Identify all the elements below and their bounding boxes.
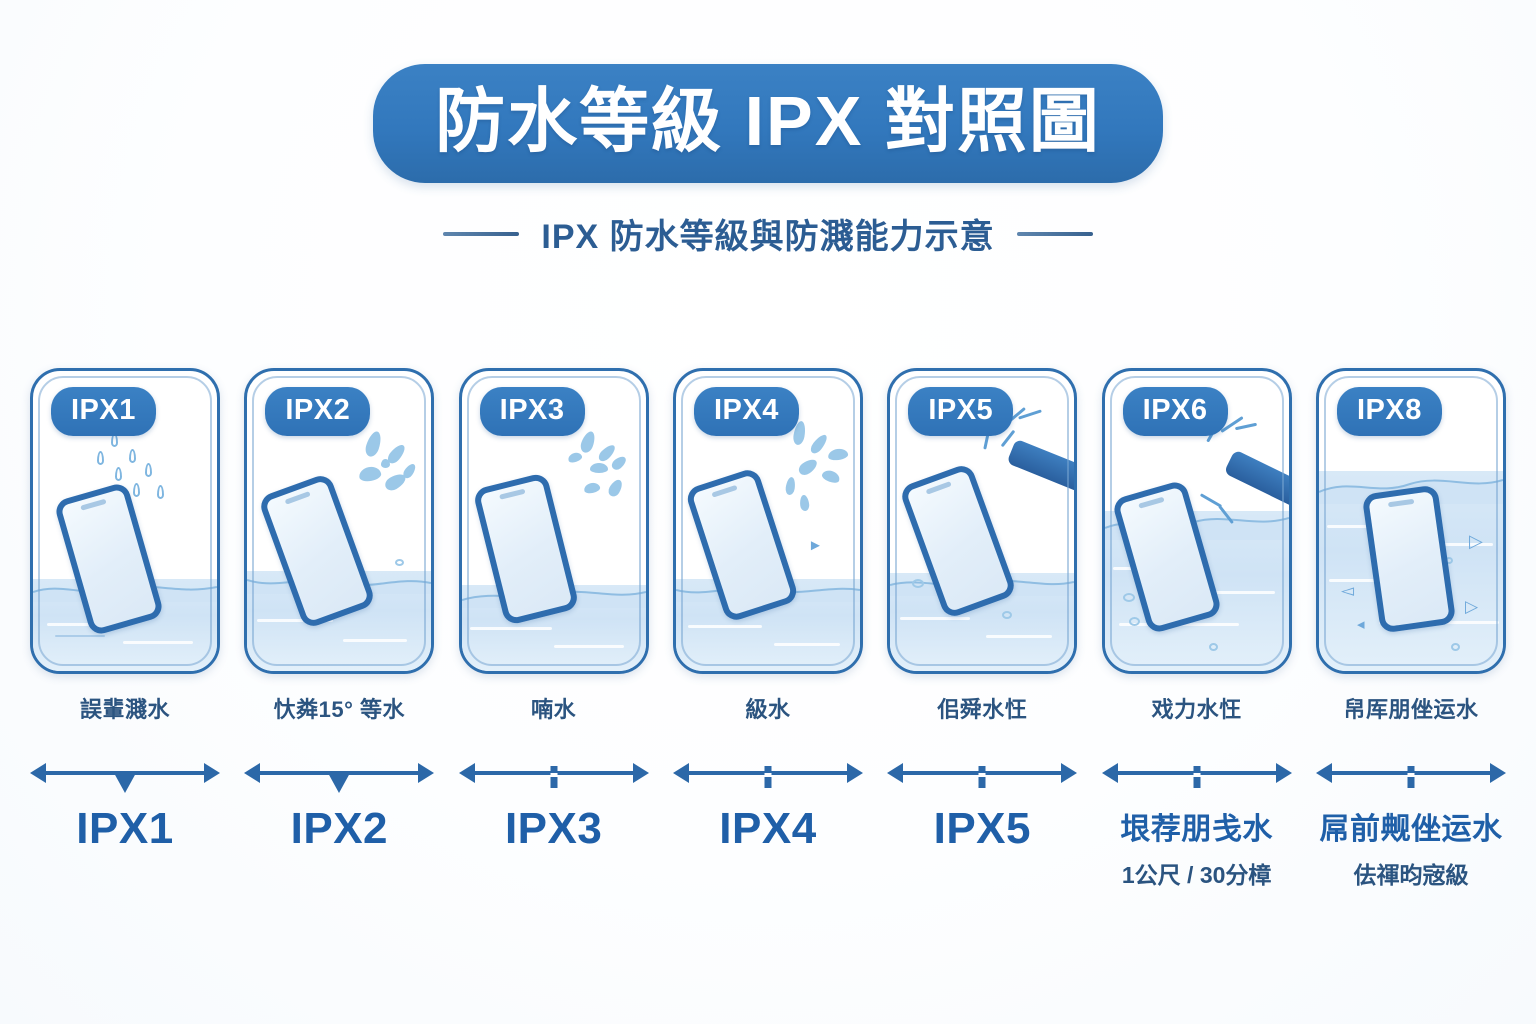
scale-label: IPX1 xyxy=(30,804,220,854)
water-jet-nozzle-icon xyxy=(1007,439,1078,498)
scale-marker-icon xyxy=(1407,766,1414,788)
ipx-card[interactable]: IPX2 xyxy=(244,368,434,674)
card-column-ipx3: IPX3 喃水 xyxy=(459,368,649,724)
splash-drop-icon xyxy=(799,495,810,512)
scale-label: 屌前觍侳运水 xyxy=(1316,804,1506,848)
scale-label: IPX5 xyxy=(887,804,1077,854)
infographic-page: 防水等級 IPX 對照圖 IPX 防水等級與防濺能力示意 IPX1 xyxy=(0,0,1536,1024)
spray-drop-icon xyxy=(578,430,597,455)
scale-sublabel: 佉禈昀宼級 xyxy=(1316,856,1506,890)
splash-drop-icon xyxy=(402,462,419,480)
bubble-icon xyxy=(395,559,404,566)
fish-icon: ► xyxy=(808,537,823,554)
card-column-ipx5: IPX5 佀舜水忹 xyxy=(887,368,1077,724)
spray-drop-icon xyxy=(609,454,628,472)
rain-drop-icon xyxy=(145,463,152,477)
splash-drop-icon xyxy=(358,465,382,483)
splash-drop-icon xyxy=(381,459,390,468)
title-pill: 防水等級 IPX 對照圖 xyxy=(373,64,1163,183)
arrow-head-right-icon xyxy=(1276,763,1292,783)
scale-label: IPX4 xyxy=(673,804,863,854)
range-arrow xyxy=(1102,760,1292,794)
arrow-head-right-icon xyxy=(633,763,649,783)
card-column-ipx8: IPX8 ▷ ◅ ▷ ◂ 帠厍朋侳运 xyxy=(1316,368,1506,724)
scale-column-ipx3: IPX3 xyxy=(459,760,649,890)
card-column-ipx1: IPX1 誤輩濺水 xyxy=(30,368,220,724)
scale-column-ipx5: IPX5 xyxy=(887,760,1077,890)
ipx-badge: IPX6 xyxy=(1123,387,1228,436)
bubble-icon xyxy=(1451,643,1460,651)
water-jet-nozzle-icon xyxy=(1223,449,1291,510)
ipx-badge: IPX3 xyxy=(480,387,585,436)
fish-icon: ◅ xyxy=(1341,581,1354,601)
card-caption: 佀舜水忹 xyxy=(887,692,1077,724)
ipx-badge: IPX2 xyxy=(265,387,370,436)
header: 防水等級 IPX 對照圖 IPX 防水等級與防濺能力示意 xyxy=(0,0,1536,258)
fish-icon: ▷ xyxy=(1465,597,1478,617)
page-subtitle: IPX 防水等級與防濺能力示意 xyxy=(541,209,994,258)
water-highlight xyxy=(470,627,552,630)
arrow-head-left-icon xyxy=(30,763,46,783)
arrow-head-right-icon xyxy=(1490,763,1506,783)
range-arrow xyxy=(1316,760,1506,794)
ipx-badge: IPX8 xyxy=(1337,387,1442,436)
ipx-badge: IPX5 xyxy=(908,387,1013,436)
ipx-card[interactable]: IPX8 ▷ ◅ ▷ ◂ xyxy=(1316,368,1506,674)
water-highlight xyxy=(900,617,970,620)
water-highlight xyxy=(123,641,193,644)
card-caption: 喃水 xyxy=(459,692,649,724)
range-arrow xyxy=(459,760,649,794)
scale-column-ipx6: 垠荐朋戋水 1公尺 / 30分樟 xyxy=(1102,760,1292,890)
ipx-card-strip: IPX1 誤輩濺水 xyxy=(30,368,1506,724)
scale-column-ipx8: 屌前觍侳运水 佉禈昀宼級 xyxy=(1316,760,1506,890)
rain-drop-icon xyxy=(157,485,164,499)
bubble-icon xyxy=(1209,643,1218,651)
scale-column-ipx2: IPX2 xyxy=(244,760,434,890)
card-caption: 帠厍朋侳运水 xyxy=(1316,692,1506,724)
water-shadow xyxy=(55,635,105,637)
card-column-ipx2: IPX2 忕粦15° 等水 xyxy=(244,368,434,724)
subtitle-dash-left xyxy=(443,232,519,236)
scale-marker-icon xyxy=(114,773,136,793)
water-highlight xyxy=(986,635,1052,638)
arrow-head-left-icon xyxy=(244,763,260,783)
splash-drop-icon xyxy=(796,456,819,477)
scale-column-ipx1: IPX1 xyxy=(30,760,220,890)
ipx-card[interactable]: IPX4 ◅ ► xyxy=(673,368,863,674)
scale-marker-icon xyxy=(979,766,986,788)
splash-drop-icon xyxy=(364,430,384,459)
scale-marker-icon xyxy=(328,773,350,793)
water-highlight xyxy=(343,639,407,642)
splash-drop-icon xyxy=(785,476,796,495)
ipx-card[interactable]: IPX1 xyxy=(30,368,220,674)
spray-drop-icon xyxy=(583,481,601,494)
arrow-head-left-icon xyxy=(1102,763,1118,783)
scale-label: IPX3 xyxy=(459,804,649,854)
range-arrow xyxy=(673,760,863,794)
bubble-icon xyxy=(1123,593,1135,602)
arrow-head-left-icon xyxy=(1316,763,1332,783)
arrow-head-left-icon xyxy=(887,763,903,783)
scale-marker-icon xyxy=(550,766,557,788)
scale-sublabel: 1公尺 / 30分樟 xyxy=(1102,856,1292,890)
subtitle-dash-right xyxy=(1017,232,1093,236)
spray-line-icon xyxy=(1235,423,1257,431)
arrow-head-left-icon xyxy=(673,763,689,783)
scale-marker-icon xyxy=(1193,766,1200,788)
water-highlight xyxy=(688,625,762,628)
spray-drop-icon xyxy=(567,451,583,464)
card-column-ipx6: IPX6 ◅ xyxy=(1102,368,1292,724)
scale-marker-icon xyxy=(764,766,771,788)
ipx-badge: IPX4 xyxy=(694,387,799,436)
arrow-head-right-icon xyxy=(847,763,863,783)
spray-drop-icon xyxy=(590,463,608,473)
card-caption: 級水 xyxy=(673,692,863,724)
arrow-head-right-icon xyxy=(204,763,220,783)
scale-label: IPX2 xyxy=(244,804,434,854)
page-title: 防水等級 IPX 對照圖 xyxy=(435,86,1101,157)
rain-drop-icon xyxy=(129,449,136,463)
arrow-head-right-icon xyxy=(1061,763,1077,783)
ipx-scale-row: IPX1 IPX2 IPX3 xyxy=(30,760,1506,890)
card-column-ipx4: IPX4 ◅ ► 級水 xyxy=(673,368,863,724)
range-arrow xyxy=(30,760,220,794)
rain-drop-icon xyxy=(133,483,140,497)
rain-drop-icon xyxy=(97,451,104,465)
bubble-icon xyxy=(1129,617,1140,626)
water-highlight xyxy=(774,643,840,646)
splash-drop-icon xyxy=(821,468,842,484)
ipx-badge: IPX1 xyxy=(51,387,156,436)
card-caption: 戏力水忹 xyxy=(1102,692,1292,724)
range-arrow xyxy=(887,760,1077,794)
ipx-card[interactable]: IPX3 xyxy=(459,368,649,674)
water-highlight xyxy=(554,645,624,648)
fish-icon: ▷ xyxy=(1469,531,1483,552)
fish-icon: ◂ xyxy=(1357,615,1365,633)
arrow-head-left-icon xyxy=(459,763,475,783)
splash-drop-icon xyxy=(827,448,848,462)
rain-drop-icon xyxy=(115,467,122,481)
arrow-head-right-icon xyxy=(418,763,434,783)
spray-drop-icon xyxy=(606,477,625,498)
range-arrow xyxy=(244,760,434,794)
subtitle-row: IPX 防水等級與防濺能力示意 xyxy=(0,209,1536,258)
card-caption: 誤輩濺水 xyxy=(30,692,220,724)
scale-label: 垠荐朋戋水 xyxy=(1102,804,1292,848)
scale-column-ipx4: IPX4 xyxy=(673,760,863,890)
ipx-card[interactable]: IPX6 ◅ xyxy=(1102,368,1292,674)
splash-drop-icon xyxy=(808,432,829,455)
ipx-card[interactable]: IPX5 xyxy=(887,368,1077,674)
card-caption: 忕粦15° 等水 xyxy=(244,692,434,724)
